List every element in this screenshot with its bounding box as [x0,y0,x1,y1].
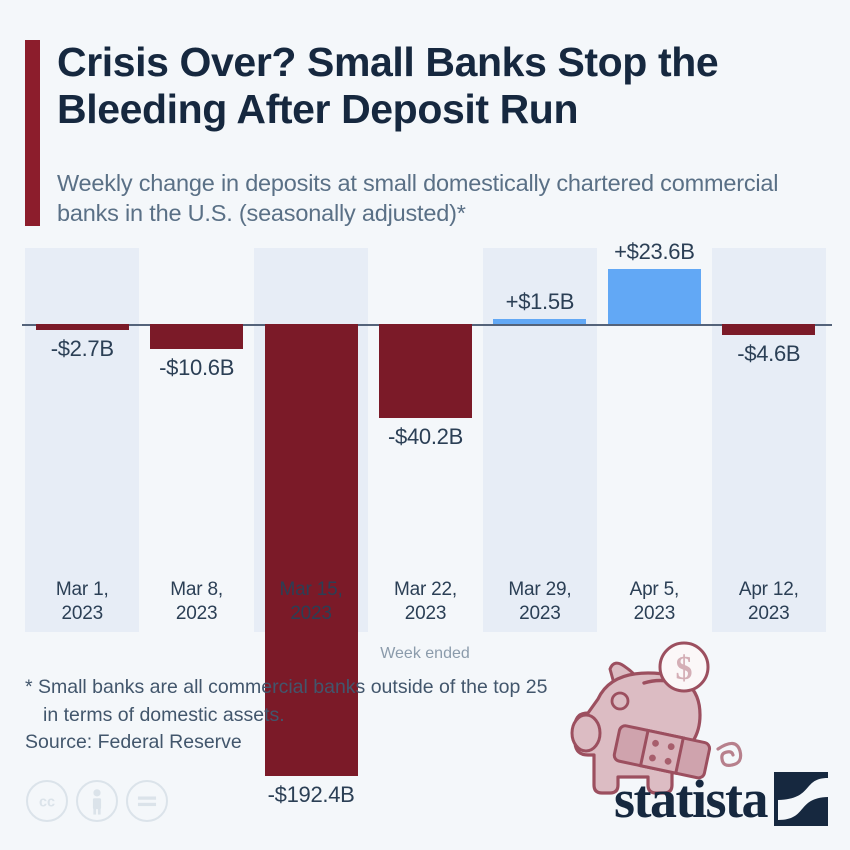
bar-mar-22-2023[interactable] [379,324,472,418]
value-label: -$40.2B [368,424,482,450]
cc-nd-icon [126,780,168,822]
page-subtitle: Weekly change in deposits at small domes… [57,168,837,228]
x-axis-tick: Mar 8,2023 [139,578,253,626]
page-title: Crisis Over? Small Banks Stop the Bleedi… [57,39,832,133]
statista-logo: statista [614,772,828,826]
bar-mar-8-2023[interactable] [150,324,243,349]
value-label: -$4.6B [712,341,826,367]
statista-wordmark: statista [614,772,767,826]
svg-text:cc: cc [39,794,55,810]
cc-by-icon [76,780,118,822]
bar-mar-1-2023[interactable] [36,324,129,330]
bar-apr-12-2023[interactable] [722,324,815,335]
x-axis-tick: Apr 5,2023 [597,578,711,626]
value-label: -$192.4B [254,782,368,808]
chart-band [712,248,826,632]
statista-mark-icon [774,772,828,826]
title-accent-bar [25,40,40,226]
x-axis-tick: Mar 22,2023 [368,578,482,626]
value-label: +$23.6B [597,239,711,265]
creative-commons-license: cc [26,780,168,822]
bar-mar-29-2023[interactable] [493,319,586,324]
infographic-root: Crisis Over? Small Banks Stop the Bleedi… [0,0,850,850]
value-label: +$1.5B [483,289,597,315]
bar-chart: -$2.7B-$10.6B-$192.4B-$40.2B+$1.5B+$23.6… [0,248,850,638]
source-note: Source: Federal Reserve [25,731,242,754]
chart-band [25,248,139,632]
x-axis-caption: Week ended [0,645,850,663]
footnote-line-2: in terms of domestic assets. [25,701,725,729]
x-axis-tick: Mar 1,2023 [25,578,139,626]
x-axis-tick: Apr 12,2023 [712,578,826,626]
bar-apr-5-2023[interactable] [608,269,701,324]
x-axis-tick: Mar 29,2023 [483,578,597,626]
x-axis-tick: Mar 15,2023 [254,578,368,626]
footnote: * Small banks are all commercial banks o… [25,673,725,729]
value-label: -$2.7B [25,336,139,362]
cc-icon: cc [26,780,68,822]
value-label: -$10.6B [139,355,253,381]
footnote-line-1: * Small banks are all commercial banks o… [25,676,547,698]
